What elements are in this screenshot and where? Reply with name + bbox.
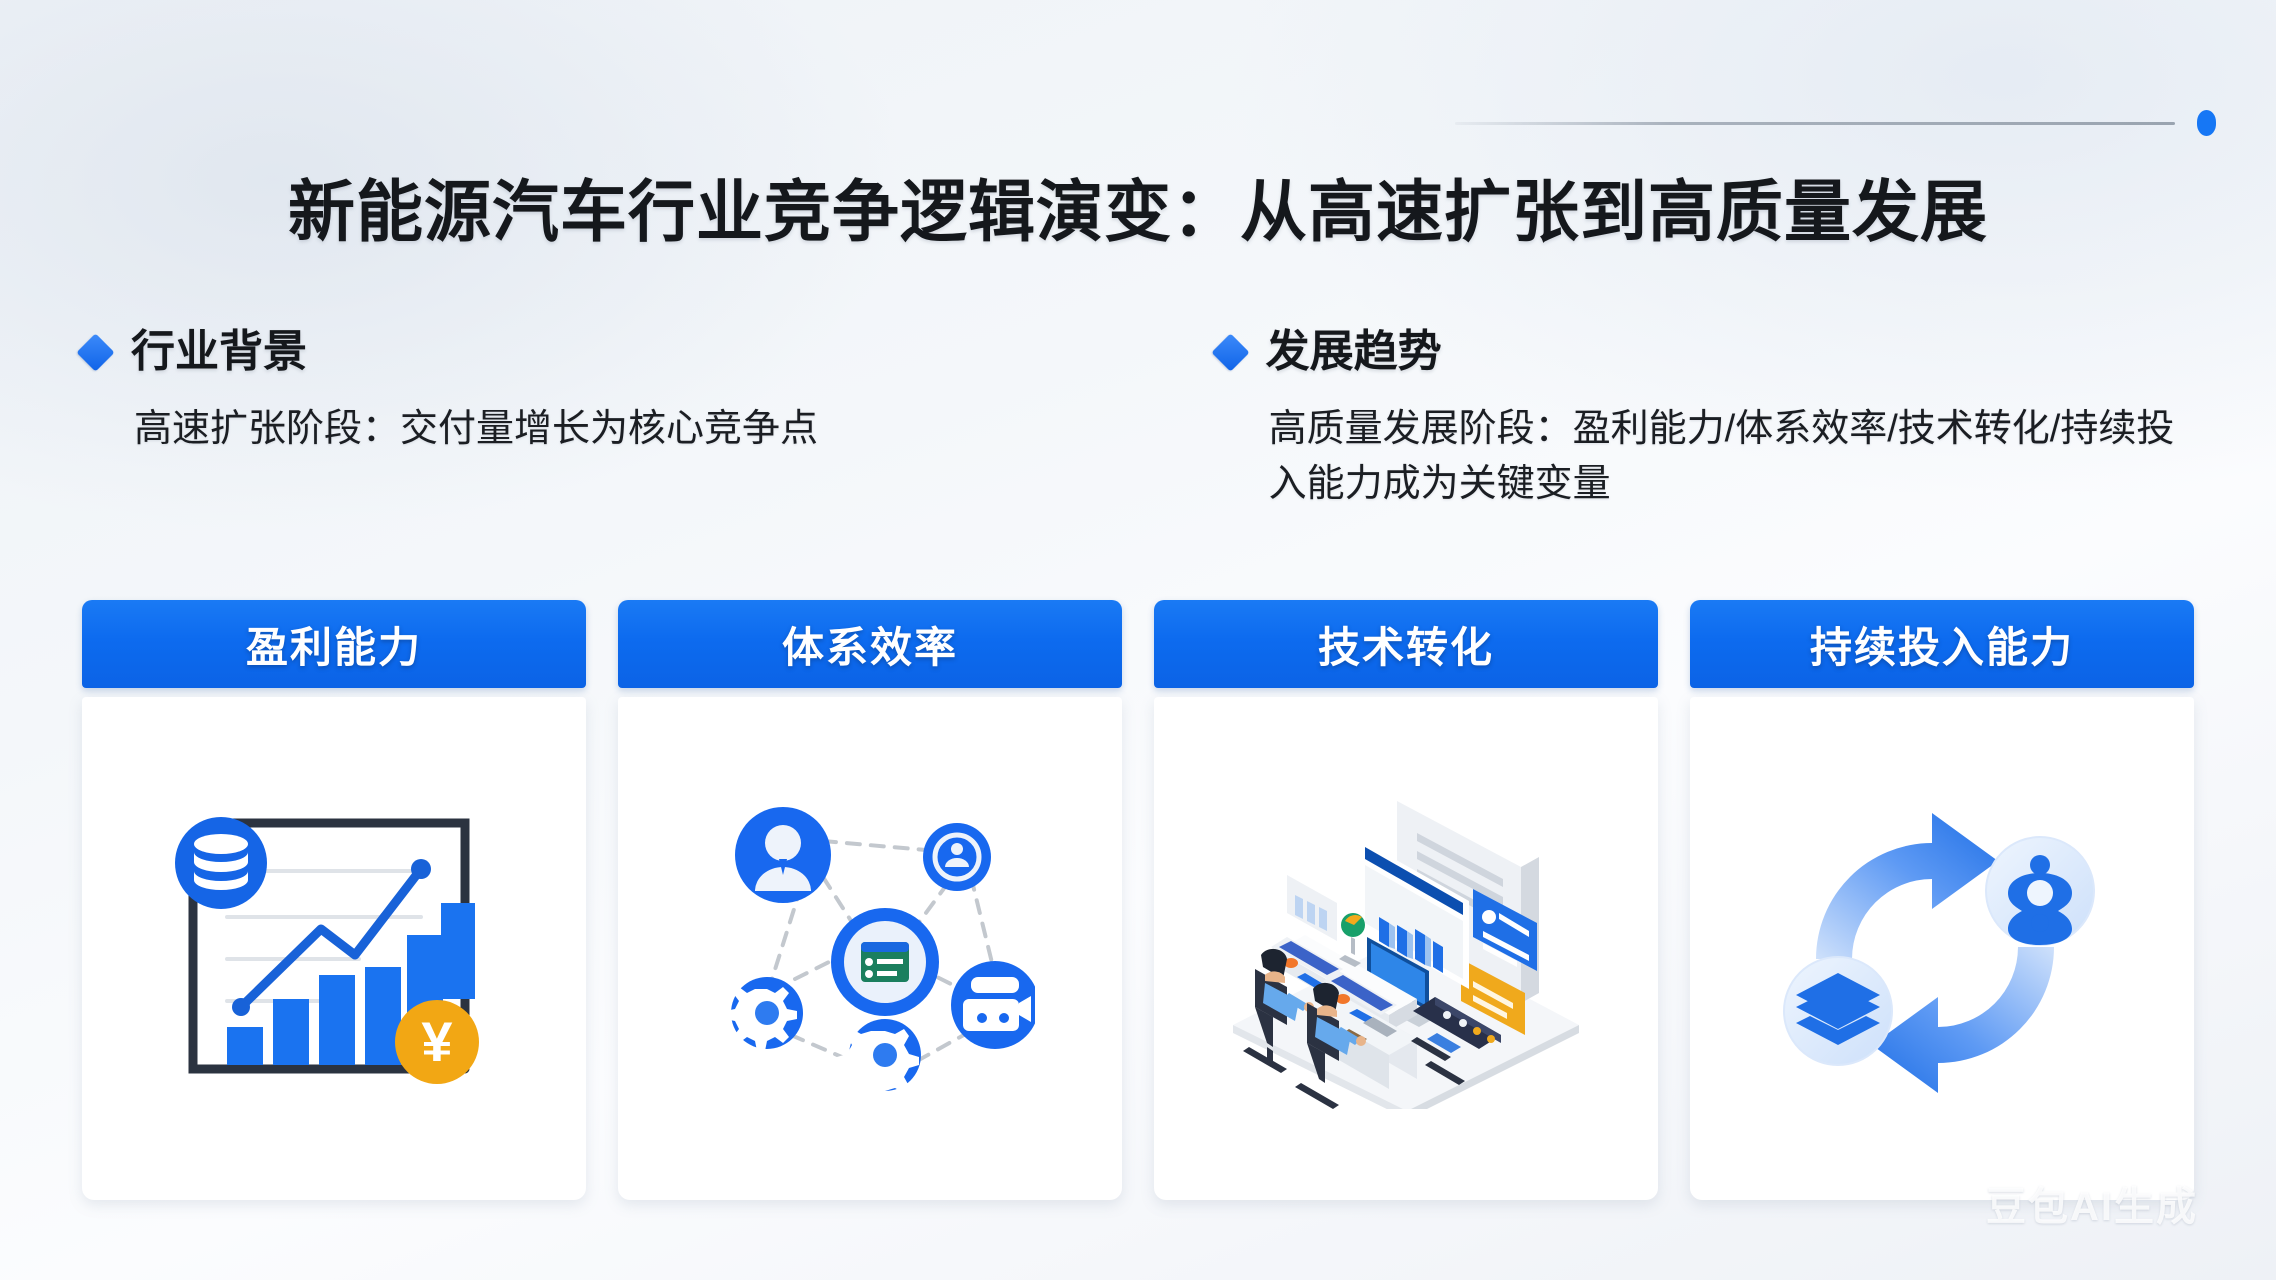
card-title-tech-conversion: 技术转化 [1154,600,1658,688]
robot-node-icon [951,961,1035,1049]
intro-section: 行业背景 高速扩张阶段：交付量增长为核心竞争点 发展趋势 高质量发展阶段：盈利能… [82,330,2194,512]
bar-chart-growth-with-coins-icon: ¥ [169,799,499,1099]
page-title: 新能源汽车行业竞争逻辑演变：从高速扩张到高质量发展 [0,158,2276,255]
intro-body-trend: 高质量发展阶段：盈利能力/体系效率/技术转化/持续投入能力成为关键变量 [1269,402,2194,512]
card-illustration-system-efficiency [618,697,1122,1200]
capability-cards-row: 盈利能力 [82,600,2194,1200]
top-right-decoration [1455,110,2216,136]
person-node-icon [735,807,831,903]
card-system-efficiency[interactable]: 体系效率 [618,600,1122,1200]
diamond-bullet-icon [1211,333,1249,371]
target-node-icon [923,823,991,891]
gear-badge-icon [1986,837,2094,945]
intro-title-background: 行业背景 [131,330,307,374]
circular-arrows-cycle-icon [1772,799,2112,1099]
arrow-counterclockwise-bottom [1872,947,2054,1093]
card-profitability[interactable]: 盈利能力 [82,600,586,1200]
gear-node-bottom-icon [837,1019,921,1099]
yen-coin-icon: ¥ [395,1000,479,1084]
intro-column-trend: 发展趋势 高质量发展阶段：盈利能力/体系效率/技术转化/持续投入能力成为关键变量 [1217,330,2194,512]
intro-heading-trend: 发展趋势 [1217,330,2194,374]
isometric-office-workstation-icon [1221,789,1591,1109]
decorative-dot [2197,110,2216,136]
card-tech-conversion[interactable]: 技术转化 [1154,600,1658,1200]
card-sustained-investment[interactable]: 持续投入能力 [1690,600,2194,1200]
svg-text:¥: ¥ [421,1010,452,1073]
intro-heading-background: 行业背景 [82,330,1177,374]
intro-body-background: 高速扩张阶段：交付量增长为核心竞争点 [134,402,1074,457]
card-illustration-sustained-investment [1690,697,2194,1200]
coin-stack-icon [175,817,267,909]
card-title-sustained-investment: 持续投入能力 [1690,600,2194,688]
center-list-node-icon [831,908,939,1016]
gear-node-left-icon [725,977,803,1051]
card-title-system-efficiency: 体系效率 [618,600,1122,688]
network-nodes-icon [705,799,1035,1099]
card-illustration-tech-conversion [1154,697,1658,1200]
diamond-bullet-icon [76,333,114,371]
card-illustration-profitability: ¥ [82,697,586,1200]
layers-badge-icon [1784,957,1892,1065]
decorative-line [1455,122,2175,125]
intro-title-trend: 发展趋势 [1266,330,1442,374]
intro-column-background: 行业背景 高速扩张阶段：交付量增长为核心竞争点 [82,330,1177,512]
arrow-clockwise-top [1816,813,1998,959]
card-title-profitability: 盈利能力 [82,600,586,688]
